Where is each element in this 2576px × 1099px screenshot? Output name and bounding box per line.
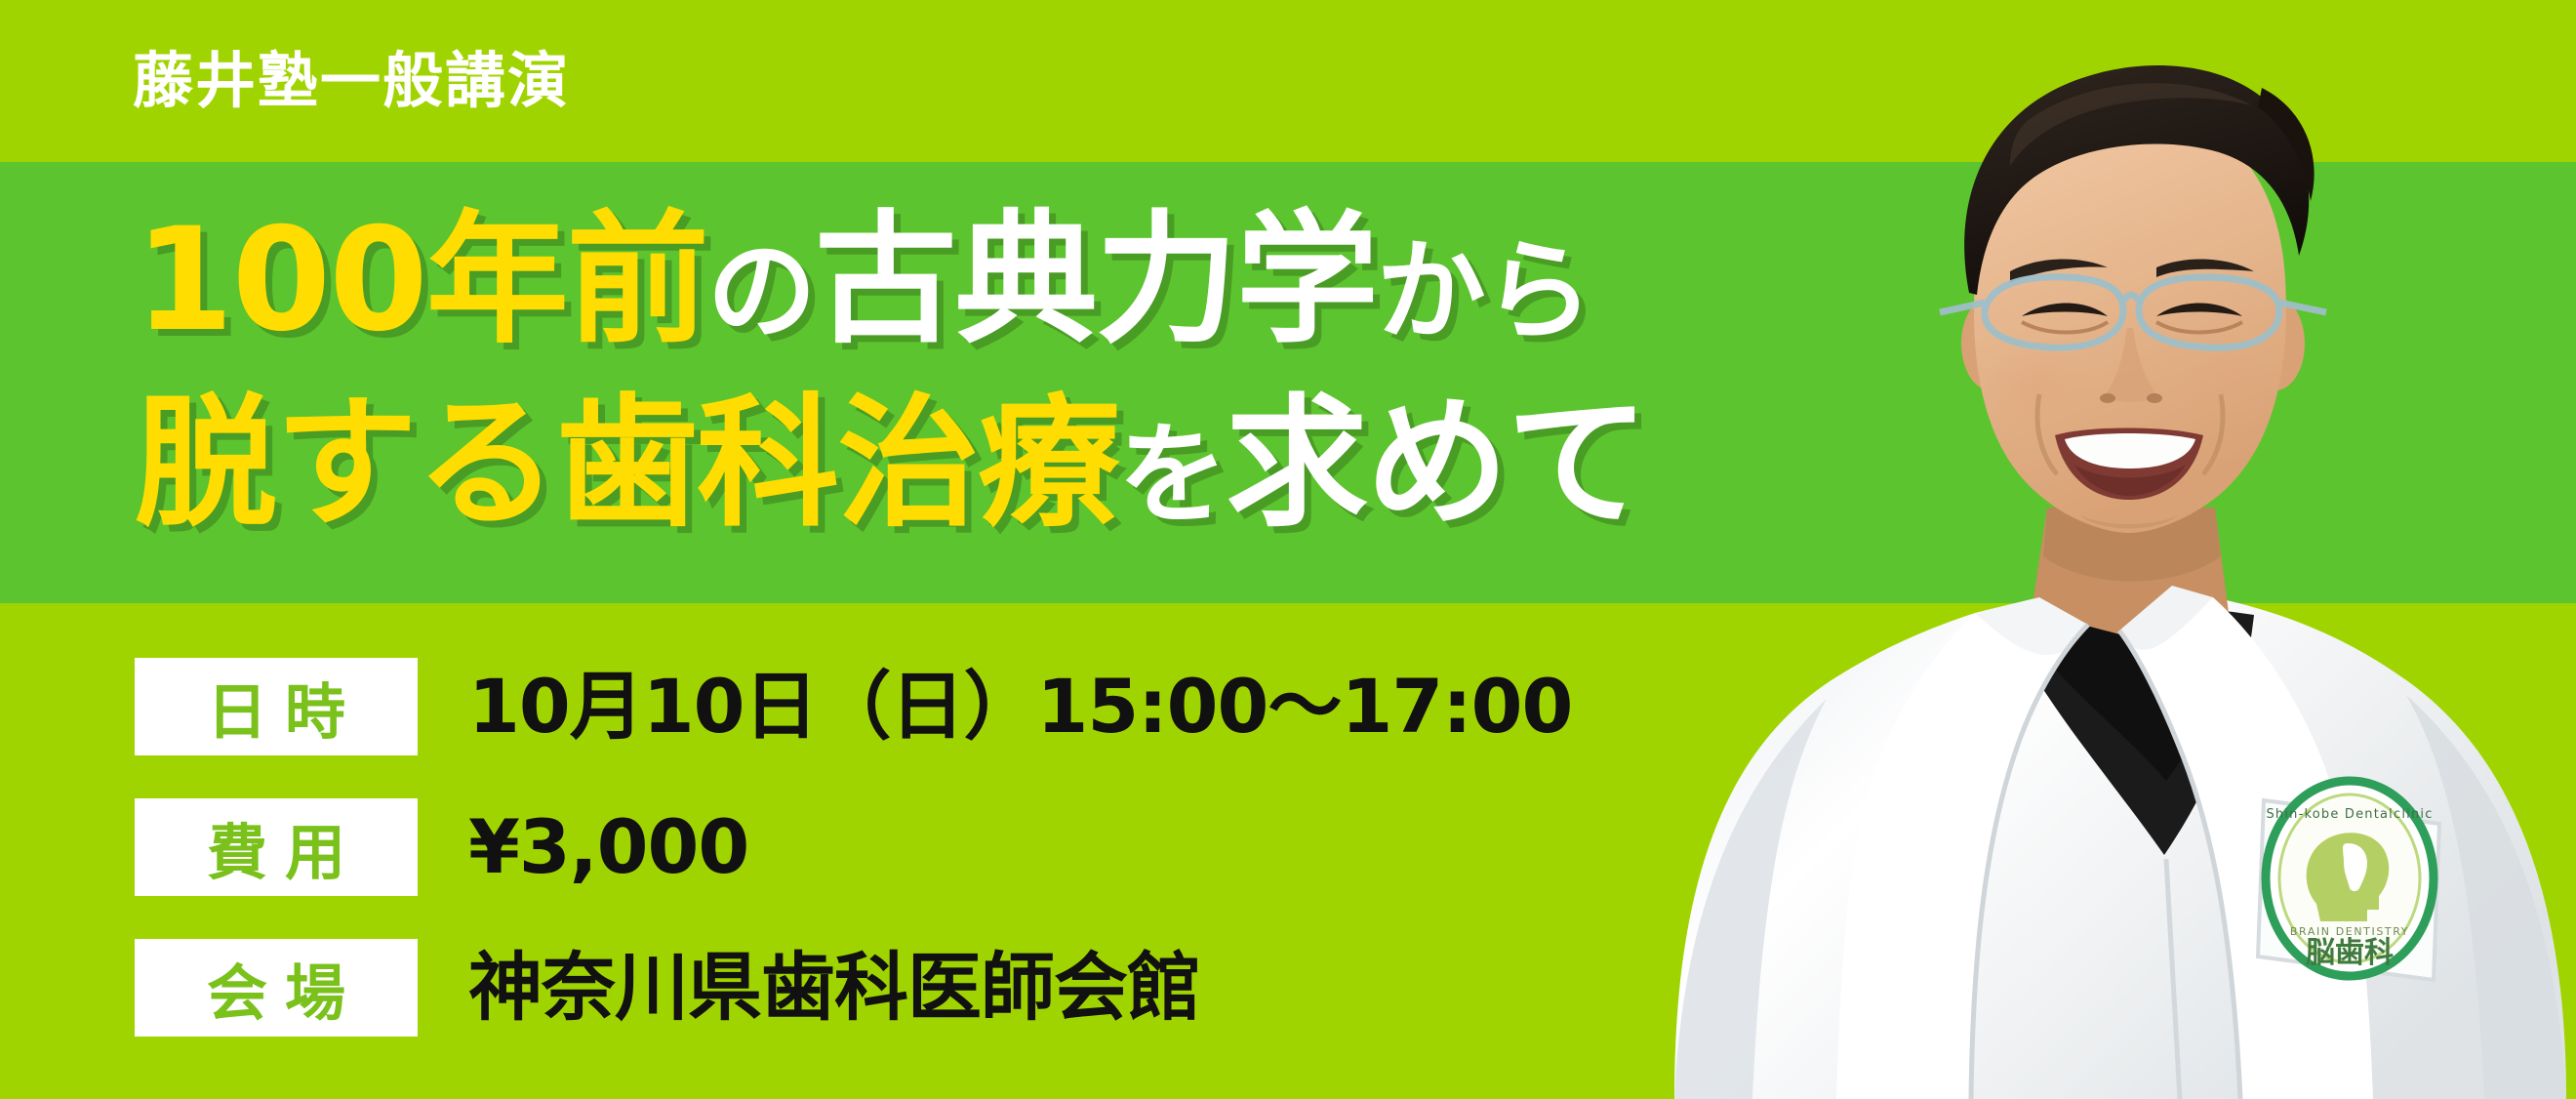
info-label-fee: 費用: [135, 798, 418, 896]
title-seg-classical-mechanics: 古典力学: [815, 209, 1377, 351]
title-seg-motomete: 求めて: [1226, 392, 1647, 535]
svg-text:脳歯科: 脳歯科: [2306, 936, 2394, 970]
title-seg-escape-dental-treatment: 脱する歯科治療: [135, 392, 1118, 535]
info-row-venue: 会場 神奈川県歯科医師会館: [135, 937, 1572, 1038]
speaker-photo: Shin-kobe Dentalclinic BRAIN DENTISTRY 脳…: [1581, 0, 2576, 1099]
info-label-datetime: 日時: [135, 658, 418, 755]
info-row-fee: 費用 ¥3,000: [135, 796, 1572, 898]
svg-text:Shin-kobe Dentalclinic: Shin-kobe Dentalclinic: [2266, 807, 2433, 822]
seminar-banner: Shin-kobe Dentalclinic BRAIN DENTISTRY 脳…: [0, 0, 2576, 1099]
main-title: 100年前の古典力学から 脱する歯科治療を求めて: [135, 209, 1647, 535]
title-seg-wo: を: [1118, 421, 1226, 530]
info-value-fee: ¥3,000: [468, 810, 748, 884]
info-value-datetime: 10月10日（日）15:00〜17:00: [468, 670, 1572, 744]
title-seg-100years: 100年前: [135, 209, 707, 351]
title-seg-no: の: [707, 237, 815, 346]
title-line-1: 100年前の古典力学から: [135, 209, 1647, 351]
info-label-venue: 会場: [135, 939, 418, 1037]
kicker-text: 藤井塾一般講演: [133, 51, 570, 111]
info-value-venue: 神奈川県歯科医師会館: [468, 951, 1200, 1025]
title-seg-kara: から: [1377, 237, 1591, 346]
title-line-2: 脱する歯科治療を求めて: [135, 392, 1647, 535]
event-info-list: 日時 10月10日（日）15:00〜17:00 費用 ¥3,000 会場 神奈川…: [135, 656, 1572, 1038]
info-row-datetime: 日時 10月10日（日）15:00〜17:00: [135, 656, 1572, 757]
